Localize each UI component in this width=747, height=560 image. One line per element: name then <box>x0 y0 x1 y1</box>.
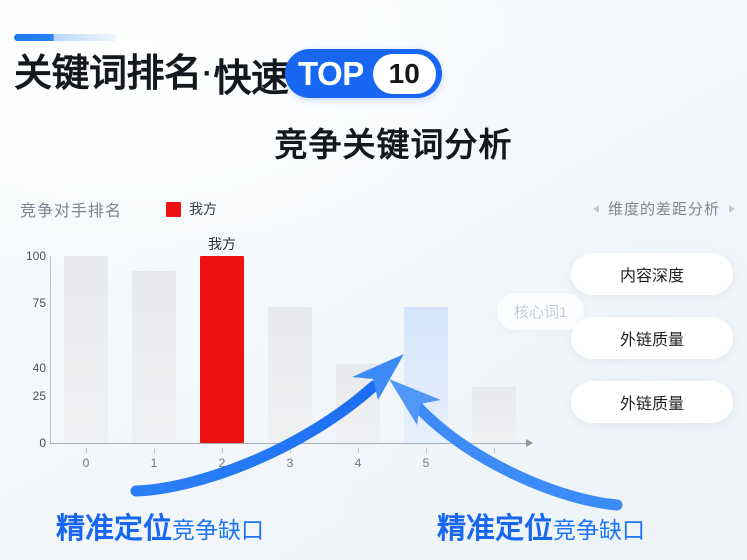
dimension-pill[interactable]: 内容深度 <box>571 253 733 295</box>
y-axis-labels: 1007540250 <box>10 248 46 440</box>
x-axis-tick: 5 <box>491 456 498 470</box>
bar-competitor <box>404 307 448 444</box>
progress-indicator <box>14 34 117 41</box>
x-axis-gradation <box>494 448 495 453</box>
x-axis-tick: 5 <box>423 456 430 470</box>
bar-mine-label: 我方 <box>208 234 236 254</box>
x-axis-tick: 2 <box>219 456 226 470</box>
caption-left-strong: 精准定位 <box>56 505 172 547</box>
legend-item-mine: 我方 <box>166 199 217 219</box>
bar-competitor <box>268 307 312 444</box>
page-title: 竞争关键词分析 <box>0 118 747 166</box>
headline-main-text: 关键词排名 <box>14 55 202 93</box>
headline-separator: · <box>203 57 213 91</box>
chart-legend: 竞争对手排名 我方 <box>20 197 217 221</box>
x-axis-tick: 1 <box>151 456 158 470</box>
chart-legend-title: 竞争对手排名 <box>20 197 122 221</box>
x-axis-gradation <box>154 448 155 453</box>
headline-fast-text: 快速 <box>214 47 289 102</box>
legend-item-label: 我方 <box>189 199 217 219</box>
triangle-left-icon[interactable] <box>593 205 599 213</box>
y-axis-tick: 40 <box>33 361 46 375</box>
bar-competitor <box>132 271 176 443</box>
legend-swatch-icon <box>166 202 181 217</box>
x-axis-tick: 3 <box>287 456 294 470</box>
y-axis-tick: 0 <box>39 436 46 450</box>
y-axis-line <box>50 256 51 443</box>
x-axis-line <box>50 443 528 444</box>
dimension-pill-list: 内容深度外链质量外链质量 <box>571 253 733 423</box>
y-axis-tick: 75 <box>33 296 46 310</box>
x-axis-tick: 0 <box>83 456 90 470</box>
y-axis-tick: 25 <box>33 389 46 403</box>
caption-right: 精准定位 竞争缺口 <box>437 505 645 547</box>
dimension-panel-title: 维度的差距分析 <box>608 198 720 219</box>
dimension-pill[interactable]: 外链质量 <box>571 381 733 423</box>
x-axis-gradation <box>86 448 87 453</box>
bar-chart: 1007540250 0123455我方 <box>0 248 540 478</box>
triangle-right-icon[interactable] <box>729 205 735 213</box>
caption-right-strong: 精准定位 <box>437 505 553 547</box>
caption-left-weak: 竞争缺口 <box>172 511 264 545</box>
top-badge-count: 10 <box>373 54 436 94</box>
top-badge-label: TOP <box>298 57 364 90</box>
dimension-pill[interactable]: 外链质量 <box>571 317 733 359</box>
x-axis-gradation <box>290 448 291 453</box>
page-headline: 关键词排名 · 快速 <box>14 46 289 102</box>
bar-competitor <box>336 364 380 443</box>
caption-left: 精准定位 竞争缺口 <box>56 505 264 547</box>
bar-series: 0123455我方 <box>52 256 528 443</box>
y-axis-tick: 100 <box>26 249 46 263</box>
bar-mine <box>200 256 244 443</box>
bar-competitor <box>472 387 516 443</box>
x-axis-gradation <box>358 448 359 453</box>
keyword-ranking-infographic: { "header": { "headline_main": "关键词排名", … <box>0 0 747 560</box>
x-axis-tick: 4 <box>355 456 362 470</box>
dimension-panel-header: 维度的差距分析 <box>593 198 735 219</box>
top-rank-badge: TOP 10 <box>285 49 442 98</box>
caption-right-weak: 竞争缺口 <box>553 511 645 545</box>
bar-competitor <box>64 256 108 443</box>
x-axis-gradation <box>426 448 427 453</box>
x-axis-gradation <box>222 448 223 453</box>
